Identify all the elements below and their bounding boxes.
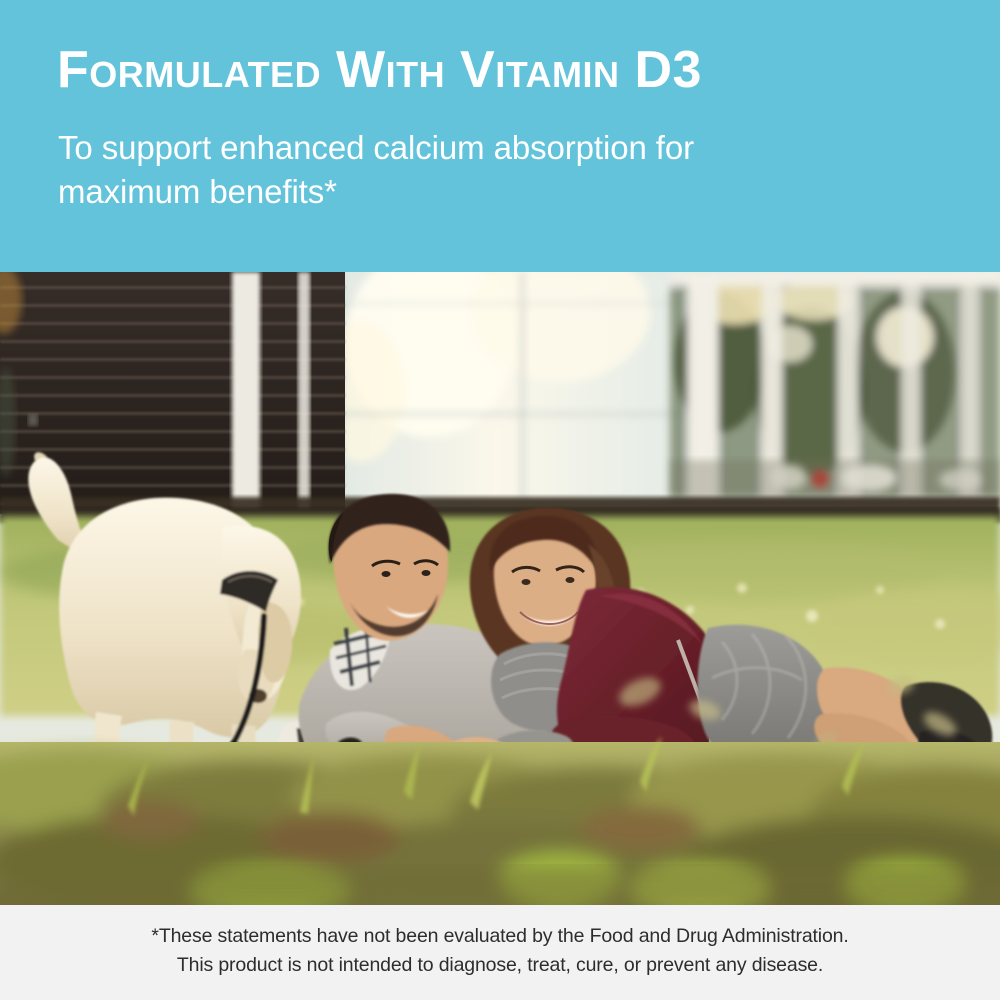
disclaimer-line-1: *These statements have not been evaluate… [0,922,1000,951]
lifestyle-photo [0,272,1000,905]
column-left [232,272,260,510]
column-inner [298,272,310,510]
subtitle-line-1: To support enhanced calcium absorption f… [58,126,848,170]
product-info-card: Formulated with Vitamin D3 To support en… [0,0,1000,1000]
page-subtitle: To support enhanced calcium absorption f… [58,126,848,214]
disclaimer-line-2: This product is not intended to diagnose… [0,951,1000,980]
page-title: Formulated with Vitamin D3 [57,44,702,96]
subtitle-line-2: maximum benefits* [58,170,848,214]
header-band: Formulated with Vitamin D3 To support en… [0,0,1000,272]
lifestyle-photo-illustration [0,272,1000,905]
fda-disclaimer: *These statements have not been evaluate… [0,922,1000,980]
